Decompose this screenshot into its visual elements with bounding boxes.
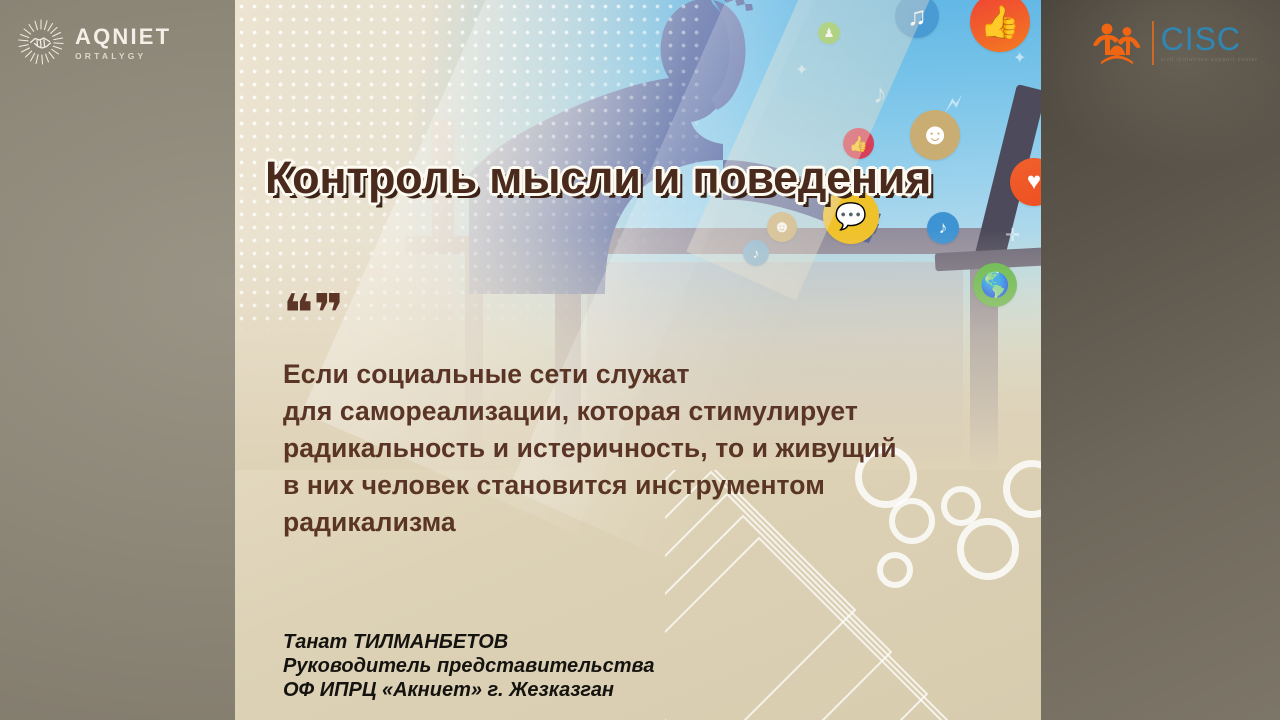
poster-card: ✦ ♪ 🗲 ✦ ✛ ✛ ♟ ♫ 👍 👍 ☻ ♟ ♥ ♟ 💬 ♪ 🌎 ☻ ☻ ♪: [235, 0, 1041, 720]
poster-quote: Если социальные сети служат для самореал…: [283, 356, 1023, 541]
aqniet-subtitle: ORTALYGY: [75, 52, 171, 61]
people-yurt-icon: [1089, 18, 1145, 68]
quote-line: в них человек становится инструментом: [283, 467, 1023, 504]
quote-line: радикализма: [283, 504, 1023, 541]
attribution-line: Танат ТИЛМАНБЕТОВ: [283, 630, 983, 654]
quote-mark-icon: ❝❞: [283, 288, 344, 340]
cisc-logo[interactable]: CISC civil initiatives support center: [1089, 14, 1258, 72]
quote-line: Если социальные сети служат: [283, 356, 1023, 393]
quote-line: радикальность и истеричность, то и живущ…: [283, 430, 1023, 467]
poster-attribution: Танат ТИЛМАНБЕТОВ Руководитель представи…: [283, 630, 983, 702]
aqniet-name: AQNIET: [75, 26, 171, 48]
cisc-divider: [1152, 21, 1154, 65]
cisc-wordmark: CISC civil initiatives support center: [1161, 23, 1258, 63]
cisc-subtitle: civil initiatives support center: [1161, 58, 1258, 63]
cisc-name: CISC: [1161, 23, 1258, 55]
aqniet-logo[interactable]: AQNIET ORTALYGY: [16, 14, 196, 70]
quote-line: для самореализации, которая стимулирует: [283, 393, 1023, 430]
handshake-sunburst-icon: [16, 17, 66, 67]
poster-title: Контроль мысли и поведения: [265, 152, 1025, 204]
attribution-line: Руководитель представительства: [283, 654, 983, 678]
attribution-line: ОФ ИПРЦ «Акниет» г. Жезказган: [283, 678, 983, 702]
aqniet-wordmark: AQNIET ORTALYGY: [75, 23, 171, 61]
